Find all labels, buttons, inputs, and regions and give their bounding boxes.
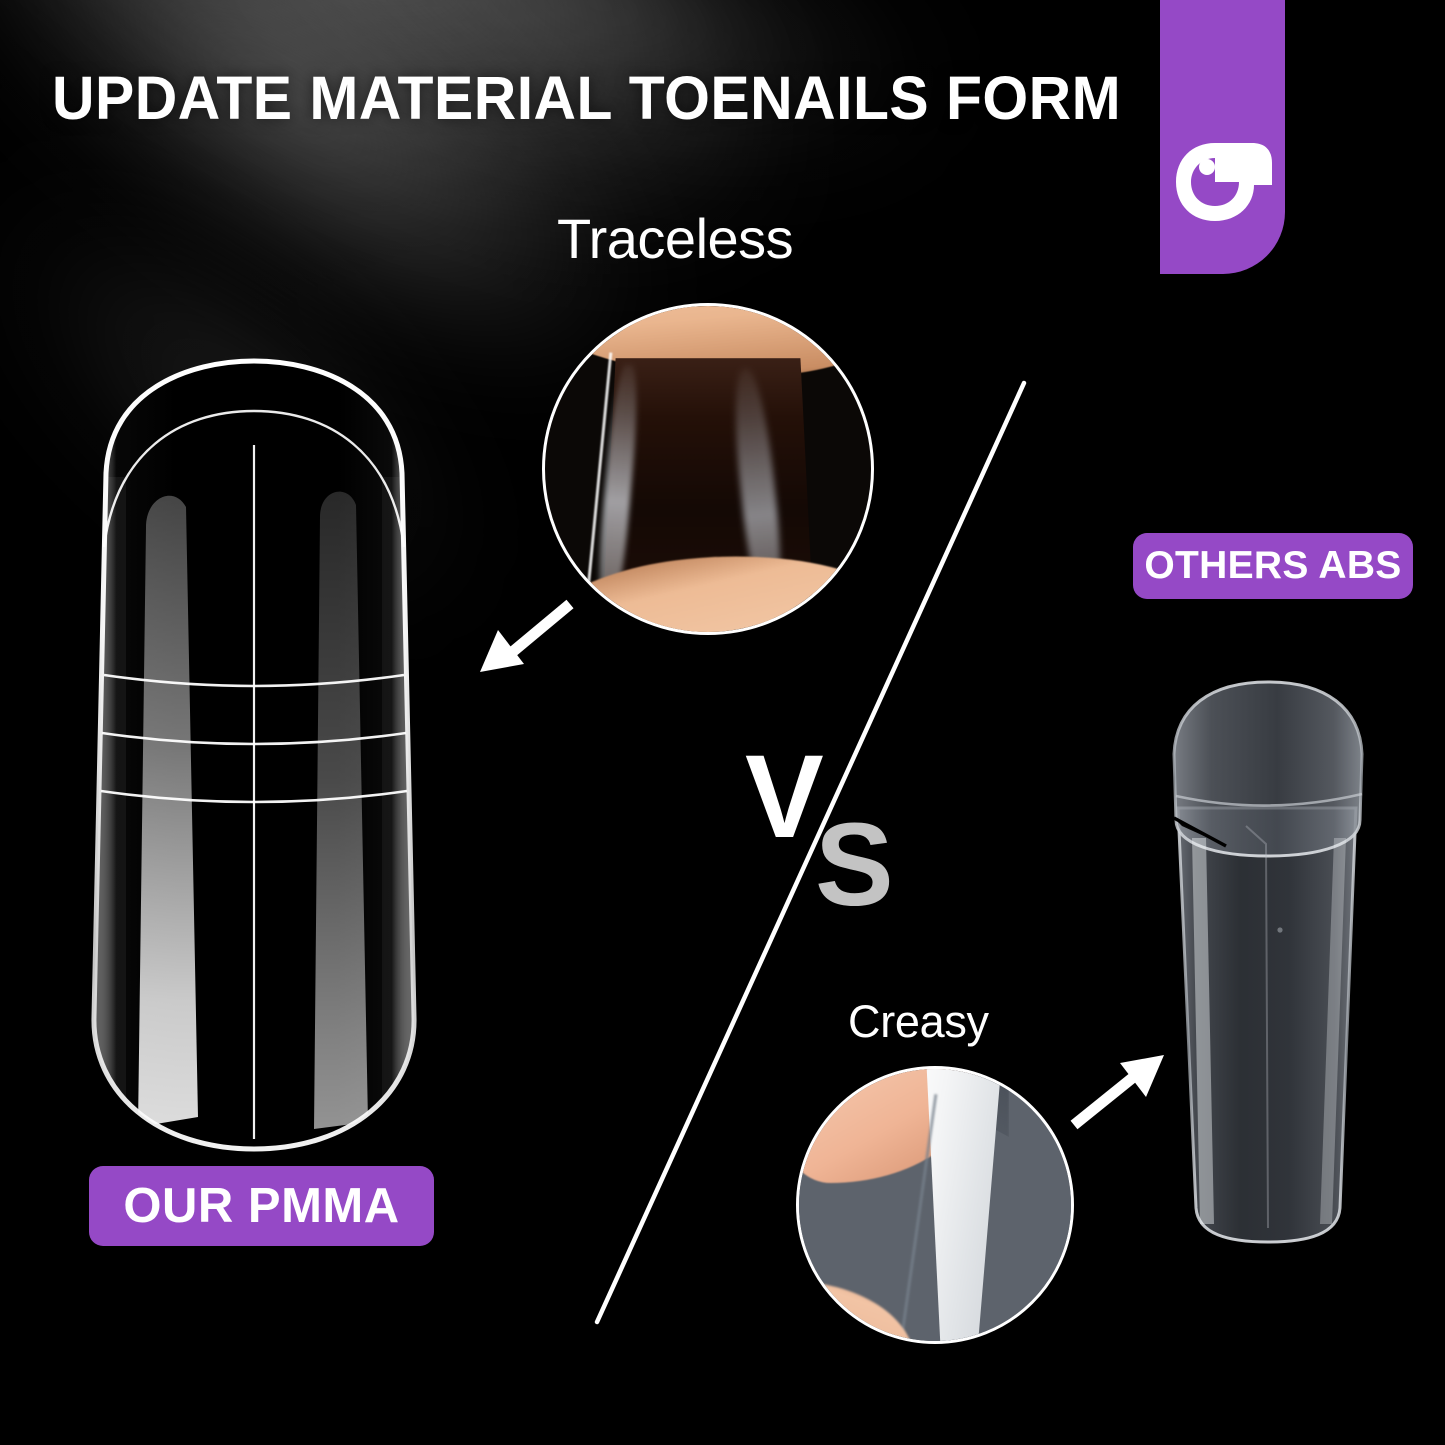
traceless-closeup-image (542, 303, 874, 635)
badge-our-pmma: OUR PMMA (89, 1166, 434, 1246)
brand-banner (1160, 0, 1285, 274)
frosted-abs-nail-form (1148, 668, 1388, 1248)
creasy-closeup-image (796, 1066, 1074, 1344)
badge-others-abs: OTHERS ABS (1133, 533, 1413, 599)
page-title: UPDATE MATERIAL TOENAILS FORM (52, 68, 1114, 129)
caption-traceless: Traceless (557, 206, 793, 271)
toucan-bird-head-icon (1174, 141, 1274, 223)
caption-creasy: Creasy (848, 996, 989, 1048)
vs-letter-v: V (745, 738, 824, 856)
product-comparison-infographic: UPDATE MATERIAL TOENAILS FORM (0, 0, 1445, 1445)
arrow-down-left-icon (458, 596, 578, 691)
vs-letter-s: S (815, 806, 894, 924)
clear-pmma-nail-form (82, 357, 427, 1162)
